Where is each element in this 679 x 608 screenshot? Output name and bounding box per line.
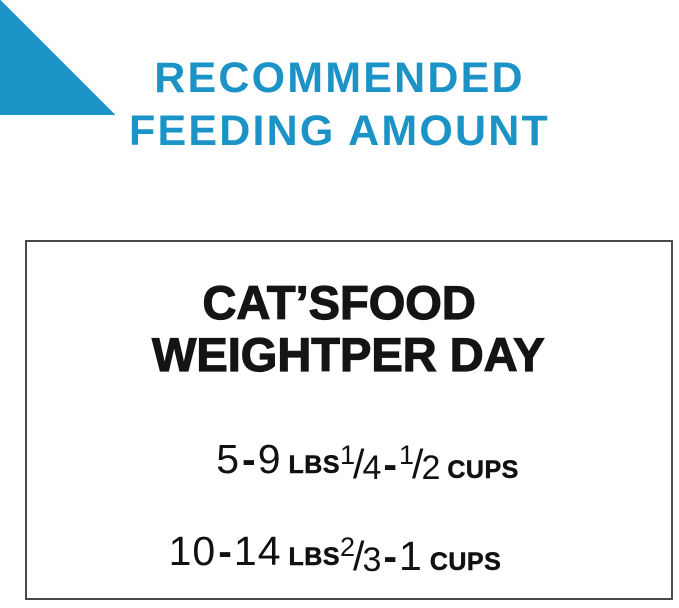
weight-dash-row-1: -	[240, 436, 258, 482]
food-unit-row-2: CUPS	[430, 548, 501, 576]
cell-food-row-1: 1/4-1/2CUPS	[340, 416, 671, 508]
weight-low-row-2: 10	[169, 528, 217, 574]
weight-high-row-1: 9	[258, 436, 282, 482]
cell-weight-row-2: 10-14LBS	[27, 508, 340, 600]
food-high-fraction-row-1: 1/2	[399, 432, 440, 491]
header-food-per-day-line-1: FOOD	[340, 277, 671, 329]
food-high-whole-row-2: 1	[399, 533, 423, 579]
food-high-denominator-row-1: 2	[421, 449, 440, 487]
food-low-denominator-row-2: 3	[362, 541, 381, 579]
food-low-fraction-row-2: 2/3	[340, 524, 381, 583]
weight-low-row-1: 5	[216, 436, 240, 482]
cell-food-row-2: 2/3-1CUPS	[340, 508, 671, 600]
weight-unit-row-1: LBS	[289, 451, 341, 479]
weight-dash-row-2: -	[216, 528, 234, 574]
food-low-denominator-row-1: 4	[362, 449, 381, 487]
food-dash-row-2: -	[381, 533, 399, 579]
food-unit-row-1: CUPS	[447, 456, 518, 484]
page-title-line-1: RECOMMENDED	[0, 52, 679, 105]
weight-unit-row-2: LBS	[289, 543, 341, 571]
table-header-row: CAT’S WEIGHT FOOD PER DAY	[27, 242, 671, 416]
food-low-fraction-row-1: 1/4	[340, 432, 381, 491]
feeding-amount-table: CAT’S WEIGHT FOOD PER DAY 5-9LBS 1/4-1/2…	[25, 240, 673, 600]
weight-high-row-2: 14	[234, 528, 282, 574]
page-title: RECOMMENDED FEEDING AMOUNT	[0, 52, 679, 158]
header-cell-cats-weight: CAT’S WEIGHT	[27, 242, 340, 416]
header-cell-food-per-day: FOOD PER DAY	[340, 242, 671, 416]
page-title-line-2: FEEDING AMOUNT	[0, 105, 679, 158]
header-cats-weight-line-2: WEIGHT	[27, 329, 340, 381]
table-row: 5-9LBS 1/4-1/2CUPS	[27, 416, 671, 508]
header-food-per-day-line-2: PER DAY	[340, 329, 671, 381]
food-dash-row-1: -	[381, 441, 399, 487]
cell-weight-row-1: 5-9LBS	[27, 416, 340, 508]
header-cats-weight-line-1: CAT’S	[27, 277, 340, 329]
table-row: 10-14LBS 2/3-1CUPS	[27, 508, 671, 600]
